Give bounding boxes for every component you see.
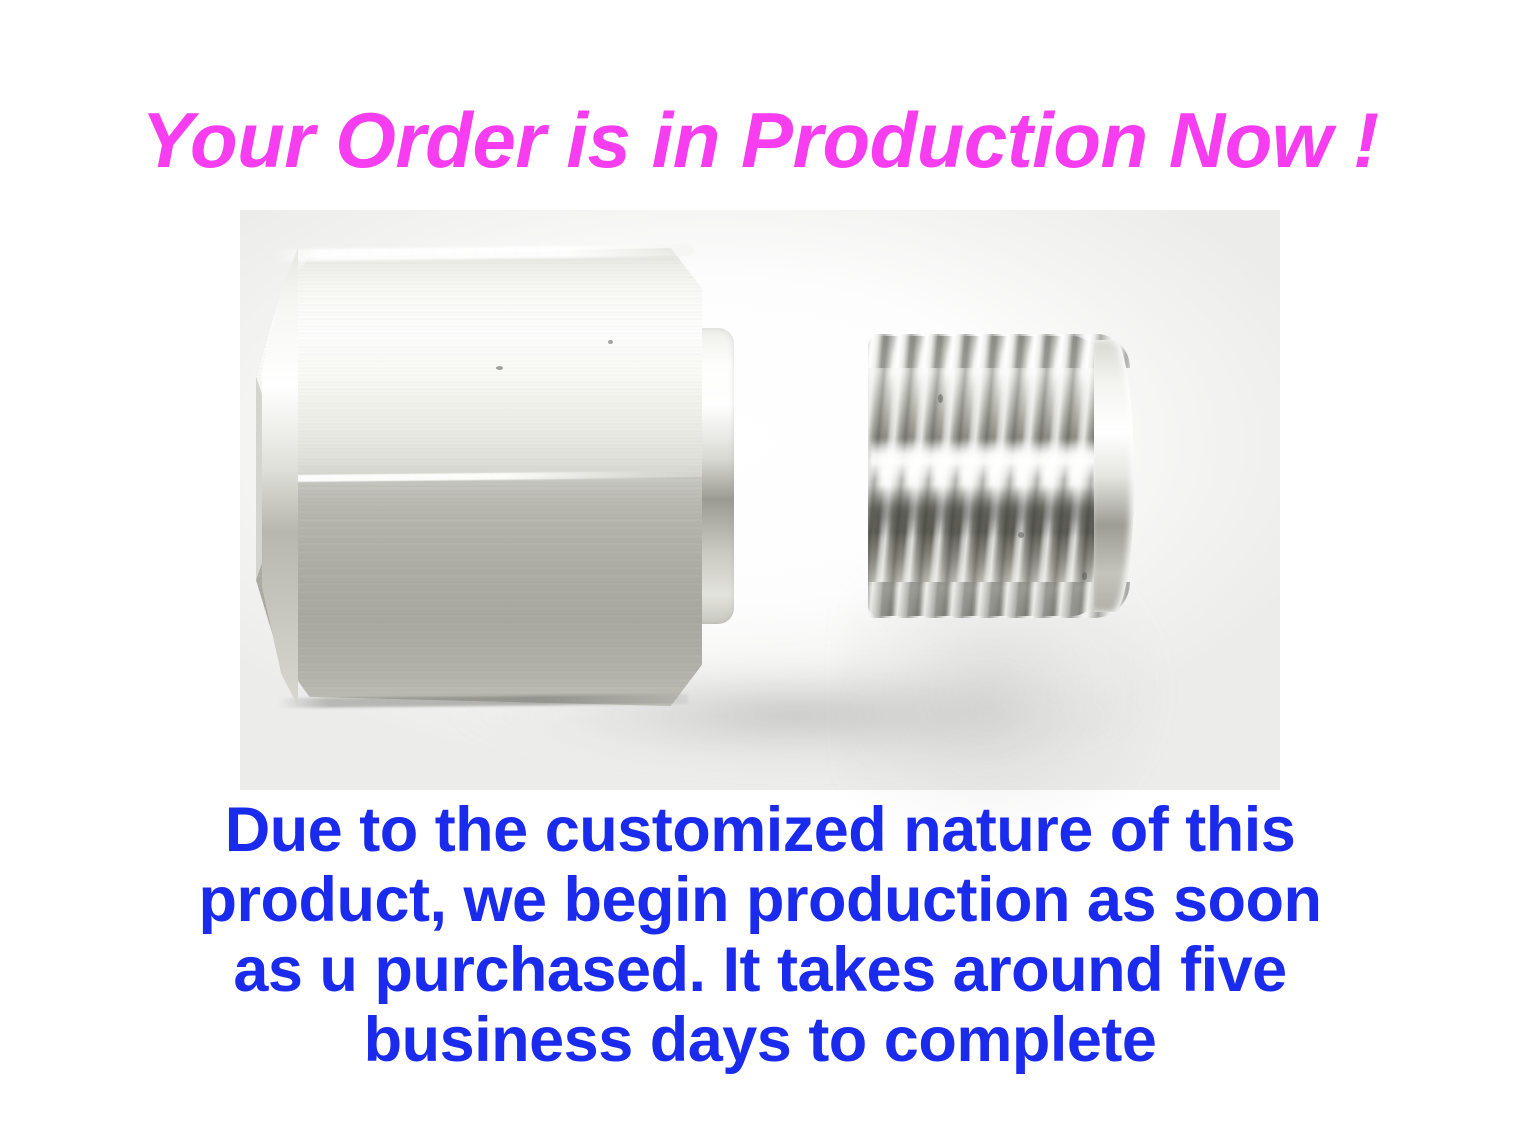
hex-upper-facet xyxy=(256,248,702,482)
thread-bottom-crests xyxy=(868,582,1130,618)
hex-machining-lines xyxy=(256,477,702,706)
hex-body xyxy=(256,248,702,706)
promo-banner: Your Order is in Production Now ! xyxy=(0,0,1520,1140)
thread-top-crests xyxy=(868,334,1130,368)
hex-machining-lines xyxy=(256,248,702,482)
notice-line-4: business days to complete xyxy=(0,1005,1520,1075)
surface-speck xyxy=(1018,532,1024,538)
surface-speck xyxy=(938,394,943,403)
thread-end-face xyxy=(1094,340,1134,612)
thread-shadow-band xyxy=(872,486,1116,538)
surface-speck xyxy=(1082,572,1087,580)
page-title: Your Order is in Production Now ! xyxy=(0,96,1520,184)
hex-lower-facet xyxy=(256,477,702,706)
hex-adapter-fitting-illustration xyxy=(240,210,1280,790)
surface-speck xyxy=(496,366,503,370)
notice-line-3: as u purchased. It takes around five xyxy=(0,935,1520,1005)
notice-line-1: Due to the customized nature of this xyxy=(0,795,1520,865)
production-notice-text: Due to the customized nature of this pro… xyxy=(0,795,1520,1075)
surface-speck xyxy=(608,340,613,344)
notice-line-2: product, we begin production as soon xyxy=(0,865,1520,935)
product-photo xyxy=(240,210,1280,790)
thread-specular-highlight xyxy=(870,440,1120,480)
male-threaded-nipple xyxy=(868,336,1130,616)
